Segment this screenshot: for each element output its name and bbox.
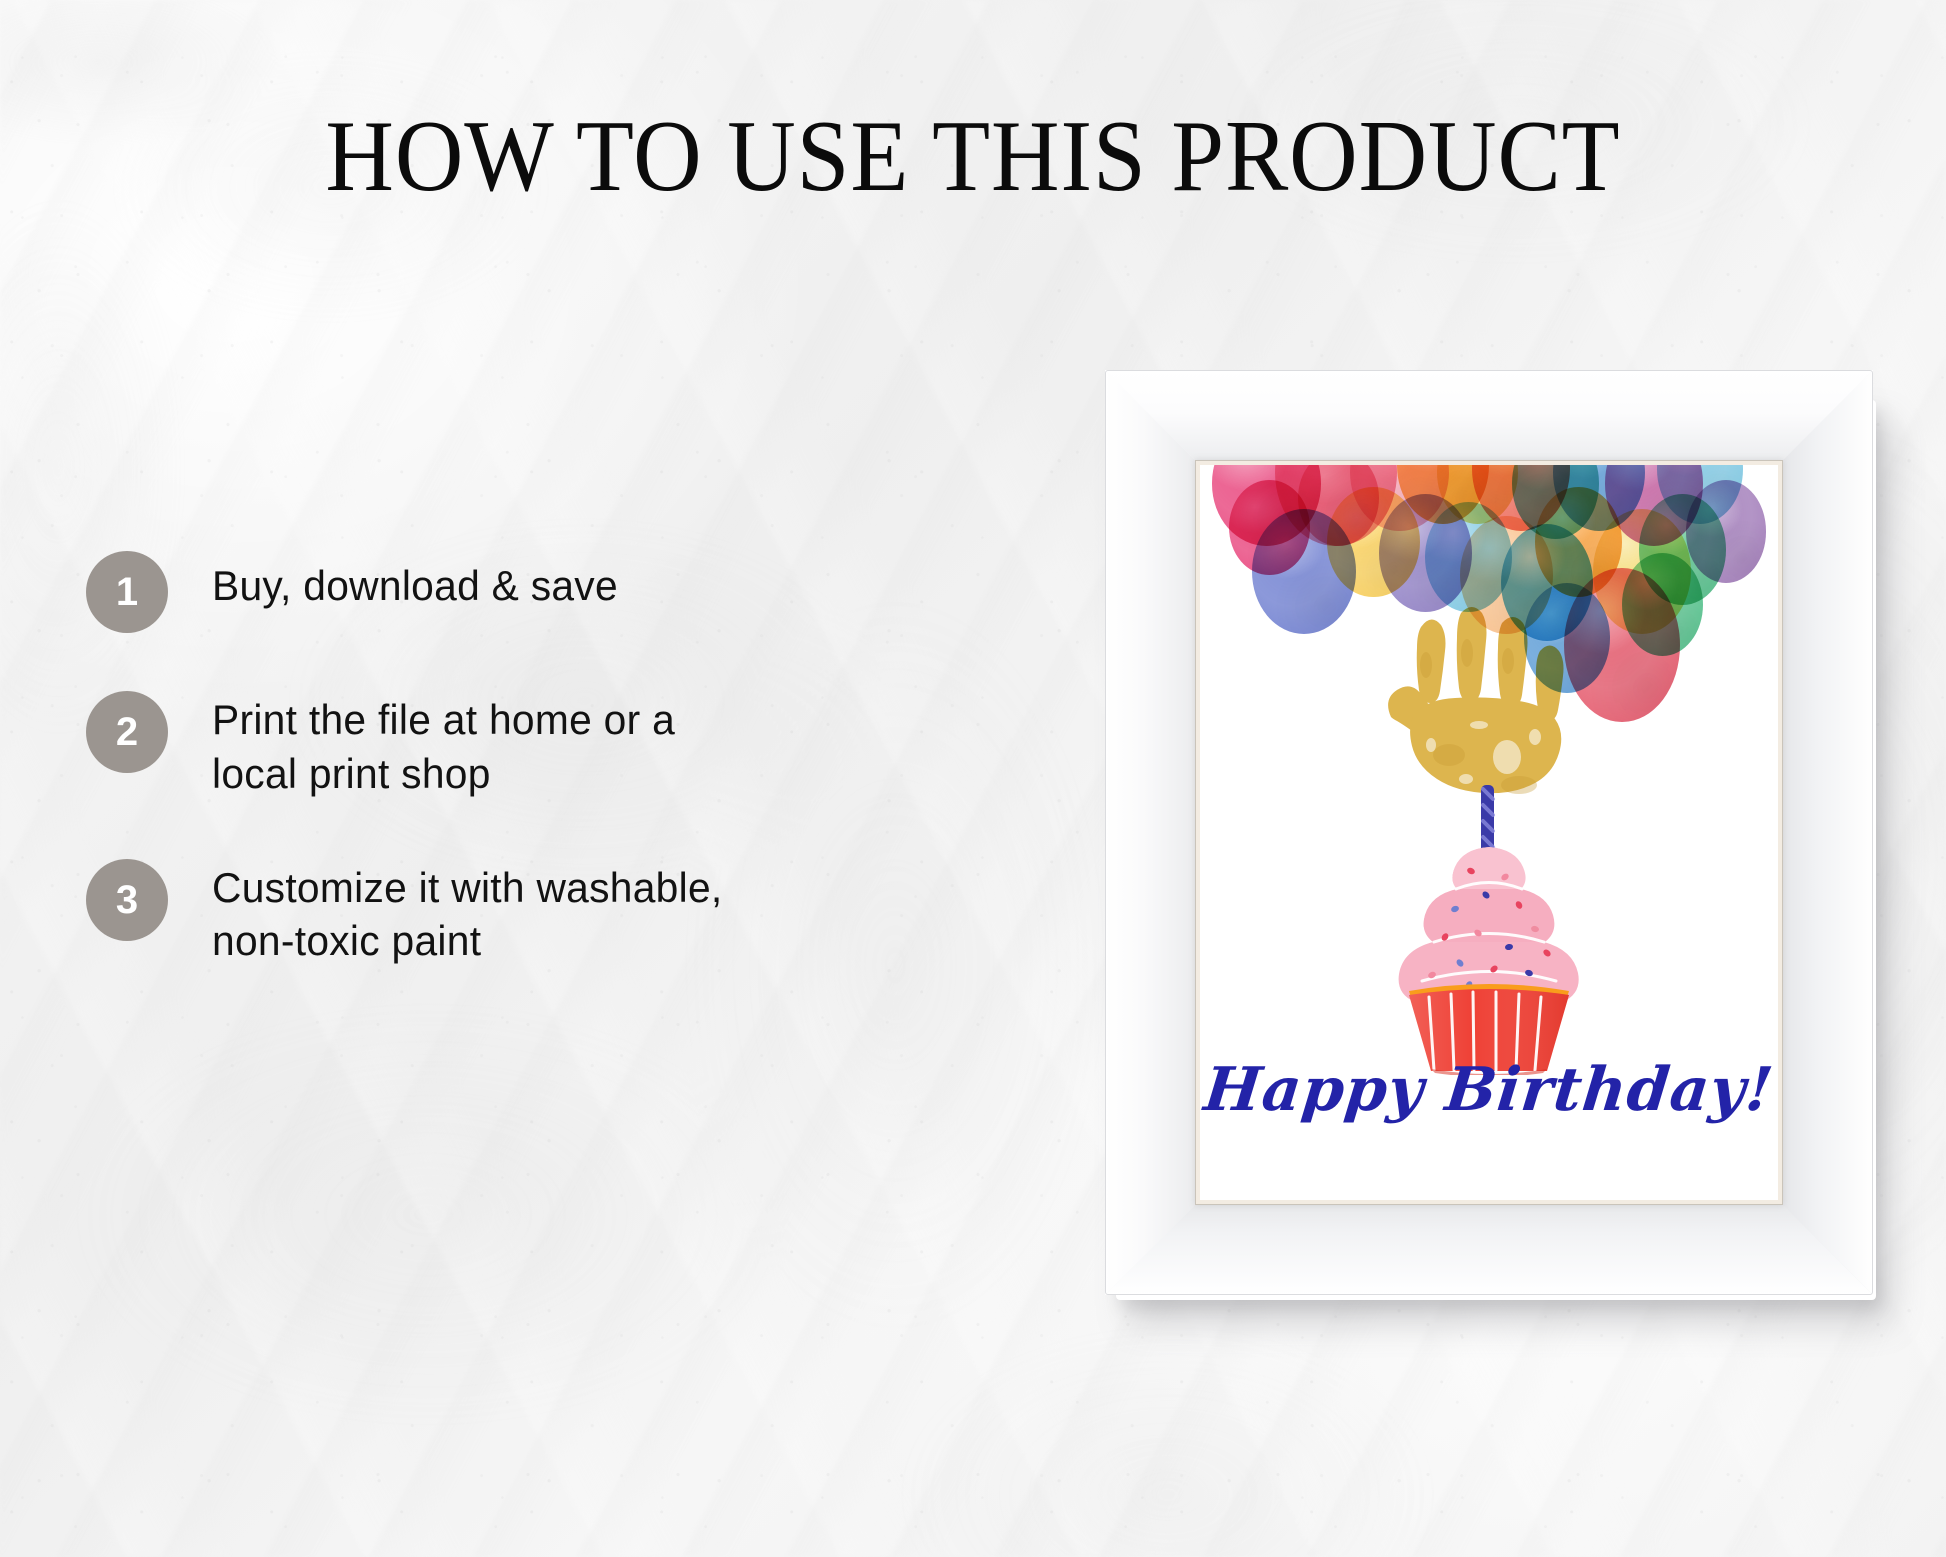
step-label: Print the file at home or a local print … [212,685,675,801]
balloon [1229,480,1310,576]
frosting [1399,847,1579,1002]
step-number-badge: 3 [86,859,168,941]
cupcake-icon [1359,785,1619,1075]
page-title: HOW TO USE THIS PRODUCT [68,103,1878,210]
artwork-canvas: Happy Birthday! [1200,465,1778,1200]
step-number-badge: 2 [86,691,168,773]
step-label: Buy, download & save [212,545,618,613]
list-item: 1 Buy, download & save [86,545,886,633]
balloon [1425,502,1512,612]
frame-bevel-left [1105,370,1200,1295]
step-number-badge: 1 [86,551,168,633]
steps-list: 1 Buy, download & save 2 Print the file … [86,545,886,968]
step-label: Customize it with washable, non-toxic pa… [212,853,723,969]
list-item: 2 Print the file at home or a local prin… [86,685,886,801]
greeting-text: Happy Birthday! [1200,1055,1778,1125]
frame-bevel-right [1778,370,1873,1295]
poster-canvas: HOW TO USE THIS PRODUCT 1 Buy, download … [0,0,1946,1557]
picture-frame: Happy Birthday! [1105,370,1873,1295]
list-item: 3 Customize it with washable, non-toxic … [86,853,886,969]
frame-bevel-bottom [1105,1200,1873,1295]
frame-bevel-top [1105,370,1873,465]
